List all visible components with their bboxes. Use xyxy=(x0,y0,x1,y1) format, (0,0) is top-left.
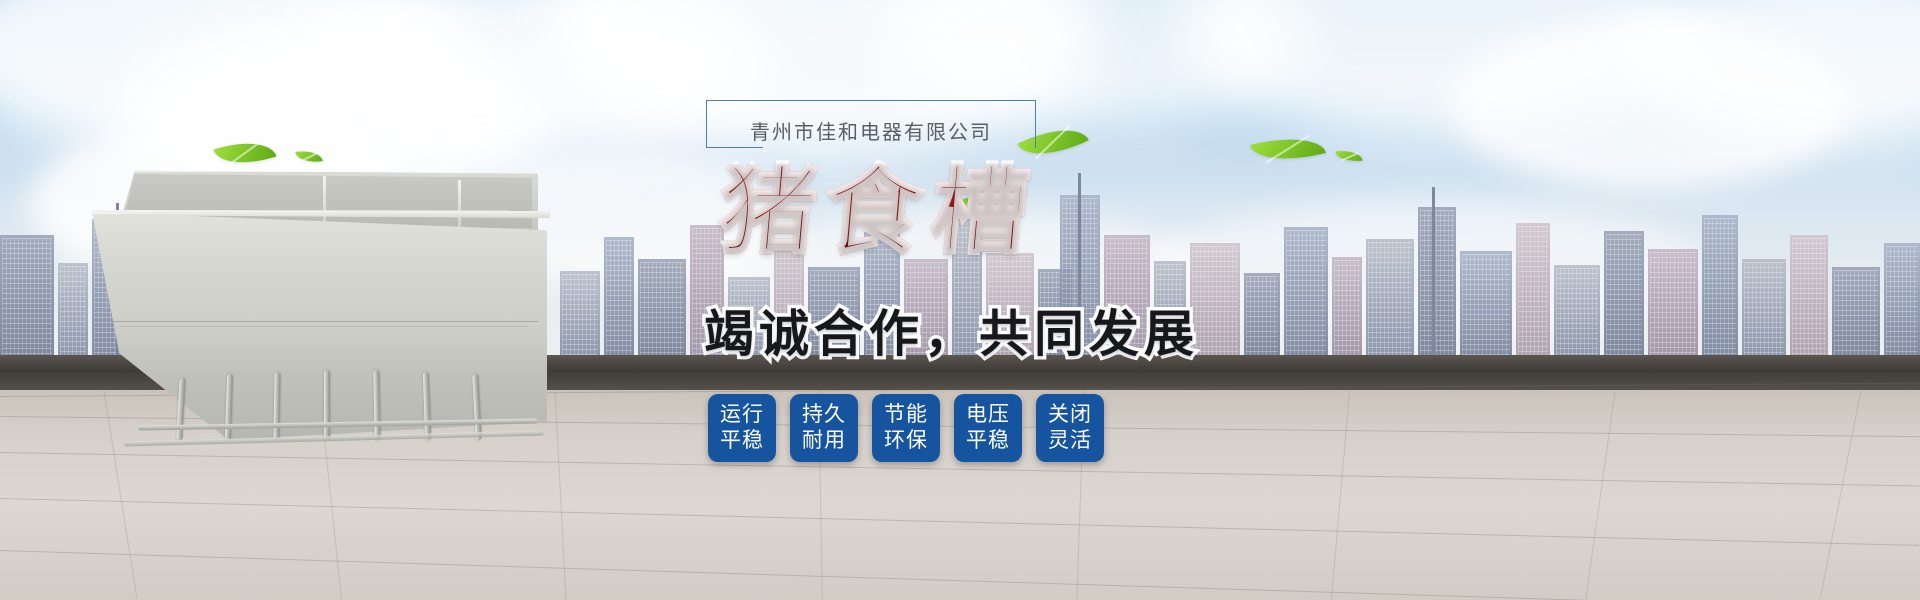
feature-badge[interactable]: 关闭 灵活 xyxy=(1036,394,1104,462)
badge-line-1: 持久 xyxy=(802,402,846,428)
badge-line-2: 环保 xyxy=(884,428,928,454)
feature-badge[interactable]: 电压 平稳 xyxy=(954,394,1022,462)
feature-badge[interactable]: 运行 平稳 xyxy=(708,394,776,462)
badge-line-1: 关闭 xyxy=(1048,402,1092,428)
badge-line-2: 平稳 xyxy=(966,428,1010,454)
feature-badge-list: 运行 平稳 持久 耐用 节能 环保 电压 平稳 关闭 灵活 xyxy=(690,394,1250,462)
badge-line-1: 运行 xyxy=(720,402,764,428)
badge-line-2: 平稳 xyxy=(720,428,764,454)
feature-badge[interactable]: 持久 耐用 xyxy=(790,394,858,462)
company-name-frame: 青州市佳和电器有限公司 xyxy=(690,96,1250,158)
headline-title: 猪食槽 xyxy=(686,164,1042,260)
badge-line-2: 灵活 xyxy=(1048,428,1092,454)
badge-line-1: 节能 xyxy=(884,402,928,428)
banner-copy: 青州市佳和电器有限公司 猪食槽 竭诚合作，共同发展 运行 平稳 持久 耐用 节能… xyxy=(690,96,1250,462)
badge-line-2: 耐用 xyxy=(802,428,846,454)
promo-banner: 青州市佳和电器有限公司 猪食槽 竭诚合作，共同发展 运行 平稳 持久 耐用 节能… xyxy=(0,0,1920,600)
feature-badge[interactable]: 节能 环保 xyxy=(872,394,940,462)
product-image-pig-feeding-trough xyxy=(78,160,558,460)
badge-line-1: 电压 xyxy=(966,402,1010,428)
headline-wrap: 猪食槽 xyxy=(690,164,1250,284)
subline-slogan: 竭诚合作，共同发展 xyxy=(690,294,1250,366)
company-name: 青州市佳和电器有限公司 xyxy=(750,116,992,145)
